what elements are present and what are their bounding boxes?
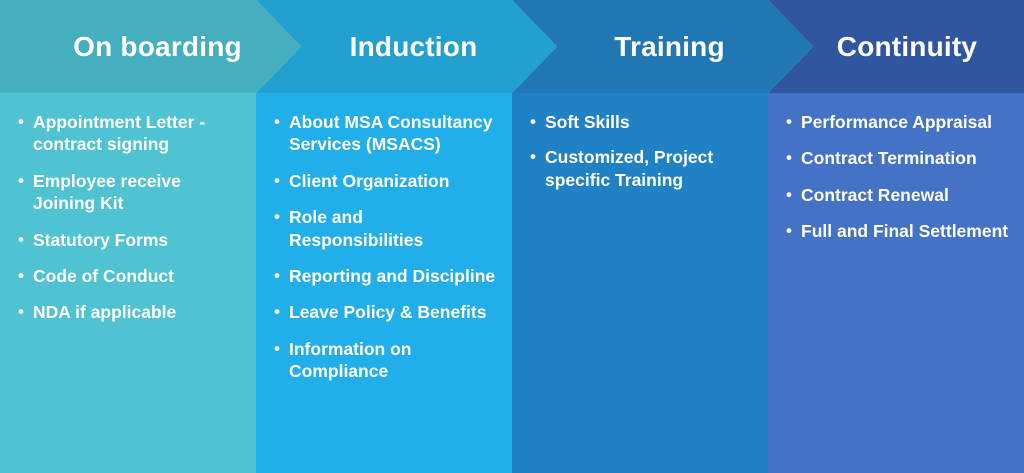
list-item: Appointment Letter - contract signing	[18, 111, 242, 156]
list-item: Performance Appraisal	[786, 111, 1010, 133]
stage-induction-body: About MSA Consultancy Services (MSACS) C…	[256, 93, 512, 473]
stage-training: Soft Skills Customized, Project specific…	[512, 0, 768, 473]
list-item: Soft Skills	[530, 111, 754, 133]
chevron-process-diagram: Appointment Letter - contract signing Em…	[0, 0, 1024, 473]
stage-continuity-body: Performance Appraisal Contract Terminati…	[768, 93, 1024, 473]
list-item: Contract Termination	[786, 147, 1010, 169]
stage-title: Induction	[336, 31, 478, 63]
list-item: About MSA Consultancy Services (MSACS)	[274, 111, 498, 156]
list-item: Information on Compliance	[274, 338, 498, 383]
stage-continuity-header: Continuity	[768, 0, 1024, 93]
list-item: Client Organization	[274, 170, 498, 192]
stage-on-boarding-list: Appointment Letter - contract signing Em…	[18, 111, 242, 324]
stage-continuity-list: Performance Appraisal Contract Terminati…	[786, 111, 1010, 243]
stage-continuity: Performance Appraisal Contract Terminati…	[768, 0, 1024, 473]
stage-induction: About MSA Consultancy Services (MSACS) C…	[256, 0, 512, 473]
list-item: Code of Conduct	[18, 265, 242, 287]
list-item: Leave Policy & Benefits	[274, 301, 498, 323]
stage-on-boarding: Appointment Letter - contract signing Em…	[0, 0, 256, 473]
stage-on-boarding-body: Appointment Letter - contract signing Em…	[0, 93, 256, 473]
list-item: Employee receive Joining Kit	[18, 170, 242, 215]
stage-title: On boarding	[59, 31, 242, 63]
list-item: Role and Responsibilities	[274, 206, 498, 251]
list-item: Statutory Forms	[18, 229, 242, 251]
list-item: NDA if applicable	[18, 301, 242, 323]
stage-title: Training	[600, 31, 725, 63]
stage-training-body: Soft Skills Customized, Project specific…	[512, 93, 768, 473]
stage-training-list: Soft Skills Customized, Project specific…	[530, 111, 754, 191]
list-item: Customized, Project specific Training	[530, 146, 754, 191]
stage-title: Continuity	[815, 31, 977, 63]
list-item: Reporting and Discipline	[274, 265, 498, 287]
list-item: Full and Final Settlement	[786, 220, 1010, 242]
list-item: Contract Renewal	[786, 184, 1010, 206]
stage-induction-list: About MSA Consultancy Services (MSACS) C…	[274, 111, 498, 383]
